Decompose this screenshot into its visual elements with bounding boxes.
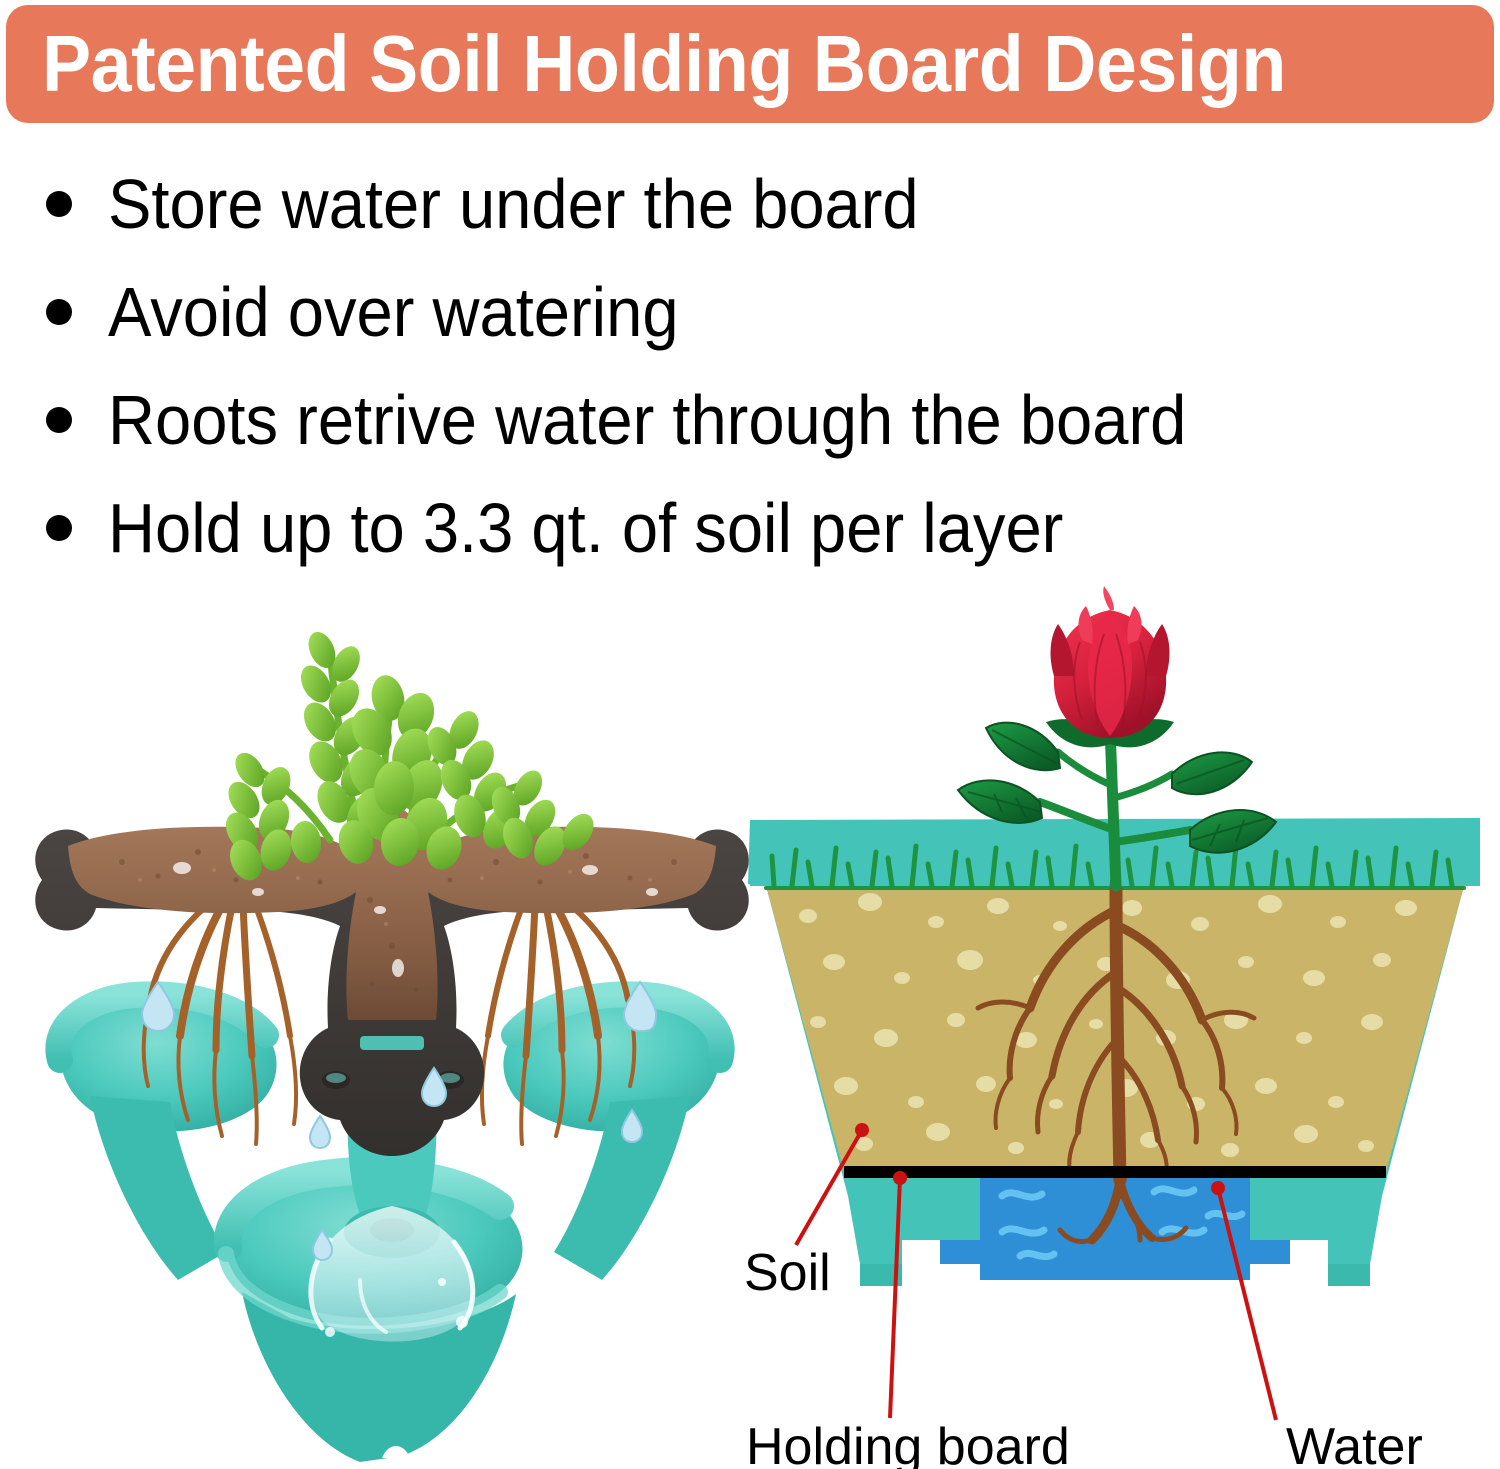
bullet-icon (46, 299, 72, 325)
label-holding-board: Holding board (746, 1418, 1070, 1469)
bullet-icon (46, 515, 72, 541)
rose-bud-icon (1051, 586, 1170, 738)
feature-label: Store water under the board (108, 169, 919, 239)
bullet-icon (46, 191, 72, 217)
header-banner: Patented Soil Holding Board Design (6, 5, 1494, 123)
page-title: Patented Soil Holding Board Design (42, 24, 1286, 104)
feature-item-1: Avoid over watering (46, 258, 1446, 366)
feature-item-3: Hold up to 3.3 qt. of soil per layer (46, 474, 1446, 582)
feature-label: Avoid over watering (108, 277, 679, 347)
label-soil: Soil (744, 1244, 831, 1302)
product-photo-planter (30, 580, 750, 1469)
feature-list: Store water under the board Avoid over w… (46, 150, 1446, 582)
holding-board-line (844, 1166, 1386, 1178)
label-water: Water (1286, 1418, 1423, 1469)
feature-item-2: Roots retrive water through the board (46, 366, 1446, 474)
green-plant (219, 628, 600, 885)
feature-label: Roots retrive water through the board (108, 385, 1186, 455)
feature-item-0: Store water under the board (46, 150, 1446, 258)
cross-section-diagram: Soil Holding board Water (730, 580, 1500, 1469)
bullet-icon (46, 407, 72, 433)
feature-label: Hold up to 3.3 qt. of soil per layer (108, 493, 1063, 563)
illustration-area: Soil Holding board Water (0, 580, 1500, 1469)
